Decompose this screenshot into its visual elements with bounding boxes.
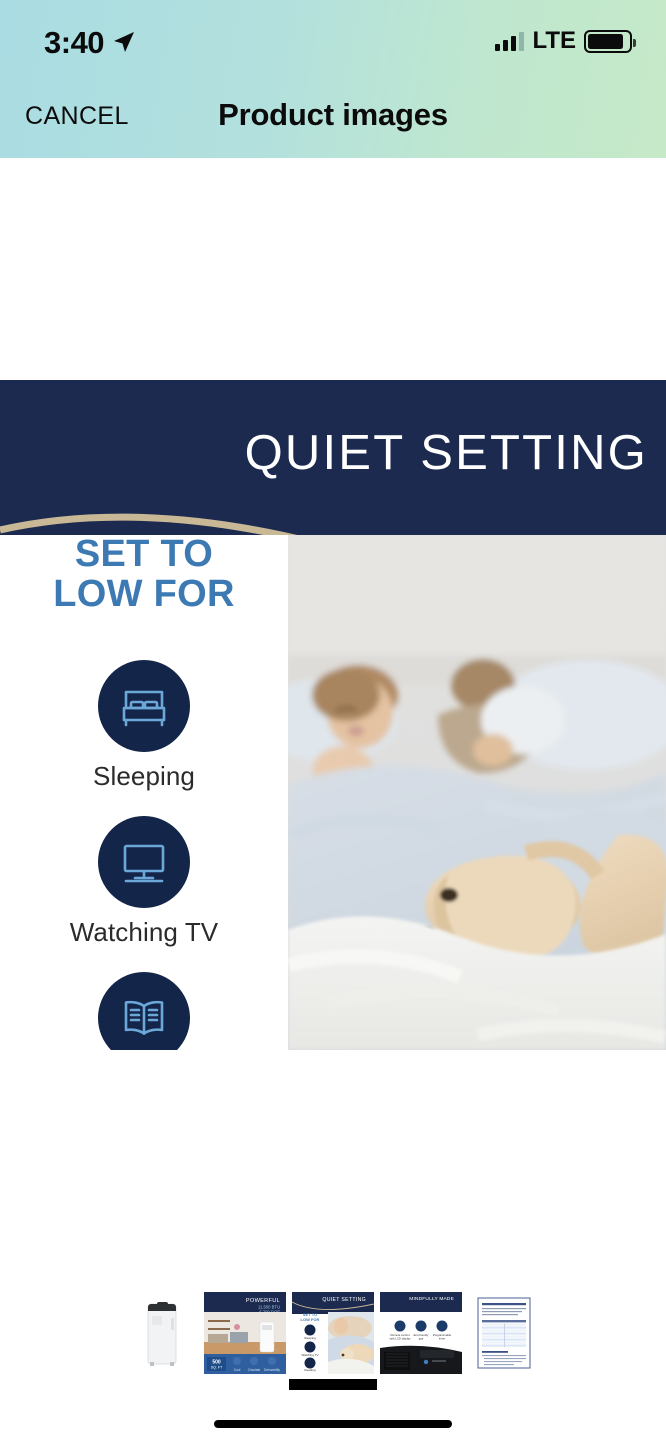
svg-text:SQ. FT: SQ. FT <box>211 1365 223 1369</box>
signal-bars-icon <box>495 31 524 51</box>
svg-text:Reading: Reading <box>304 1368 316 1372</box>
thumbnail-strip[interactable]: POWERFUL 11,500 BTU 6,700 DOE 500 <box>0 1285 666 1380</box>
mode-watching-tv: Watching TV <box>0 816 288 948</box>
mode-icon-circle <box>98 660 190 752</box>
thumbnail-air-conditioner-unit[interactable] <box>126 1292 198 1374</box>
svg-text:Dehumidify: Dehumidify <box>264 1368 280 1372</box>
location-arrow-icon <box>112 30 136 54</box>
selected-thumbnail-indicator <box>289 1379 377 1390</box>
modes-column: SET TO LOW FOR <box>0 535 288 1050</box>
svg-text:Watching TV: Watching TV <box>301 1353 318 1357</box>
network-label: LTE <box>532 27 576 55</box>
mode-label: Sleeping <box>0 761 288 792</box>
set-to-low-line-1: SET TO <box>0 535 288 575</box>
product-image-viewer[interactable]: QUIET SETTING SET TO LOW FOR <box>0 380 666 1050</box>
svg-text:gas: gas <box>419 1336 424 1340</box>
product-images-screen: 3:40 LTE CANCEL Product images <box>0 0 666 1440</box>
nav-bar: CANCEL Product images <box>0 80 666 158</box>
svg-text:timer: timer <box>439 1336 445 1340</box>
modes-list: Sleeping Watching TV <box>0 660 288 1050</box>
svg-text:Circulate: Circulate <box>248 1368 261 1372</box>
sleeping-photo <box>288 535 666 1050</box>
banner-title: QUIET SETTING <box>245 425 648 481</box>
battery-icon <box>584 30 632 53</box>
mode-sleeping: Sleeping <box>0 660 288 792</box>
thumbnail-powerful-feature[interactable]: POWERFUL 11,500 BTU 6,700 DOE 500 <box>204 1292 286 1374</box>
svg-text:MINDFULLY MADE: MINDFULLY MADE <box>409 1296 454 1302</box>
mode-icon-circle <box>98 816 190 908</box>
book-icon <box>116 990 172 1046</box>
svg-text:Sleeping: Sleeping <box>304 1336 316 1340</box>
svg-text:LOW FOR: LOW FOR <box>301 1317 320 1322</box>
bed-icon <box>116 678 172 734</box>
status-right-group: LTE <box>495 27 632 55</box>
status-clock: 3:40 <box>44 25 104 61</box>
tv-icon <box>116 834 172 890</box>
app-header: 3:40 LTE CANCEL Product images <box>0 0 666 158</box>
set-to-low-line-2: LOW FOR <box>0 575 288 615</box>
svg-text:POWERFUL: POWERFUL <box>246 1298 280 1304</box>
status-bar: 3:40 LTE <box>0 0 666 80</box>
svg-text:with LCD display: with LCD display <box>390 1336 411 1340</box>
mode-label: Watching TV <box>0 917 288 948</box>
thumbnail-specification-sheet[interactable] <box>468 1292 540 1374</box>
mode-icon-circle <box>98 972 190 1050</box>
svg-text:QUIET SETTING: QUIET SETTING <box>322 1297 366 1303</box>
thumbnail-quiet-setting[interactable]: QUIET SETTING SET TO LOW FOR Sleeping Wa… <box>292 1292 374 1374</box>
mode-reading: Reading <box>0 972 288 1050</box>
thumbnail-mindfully-made[interactable]: MINDFULLY MADE Remote control with LCD d… <box>380 1292 462 1374</box>
set-to-low-heading: SET TO LOW FOR <box>0 535 288 615</box>
home-indicator <box>214 1420 452 1428</box>
page-title: Product images <box>0 97 666 133</box>
svg-text:Cool: Cool <box>234 1368 241 1372</box>
